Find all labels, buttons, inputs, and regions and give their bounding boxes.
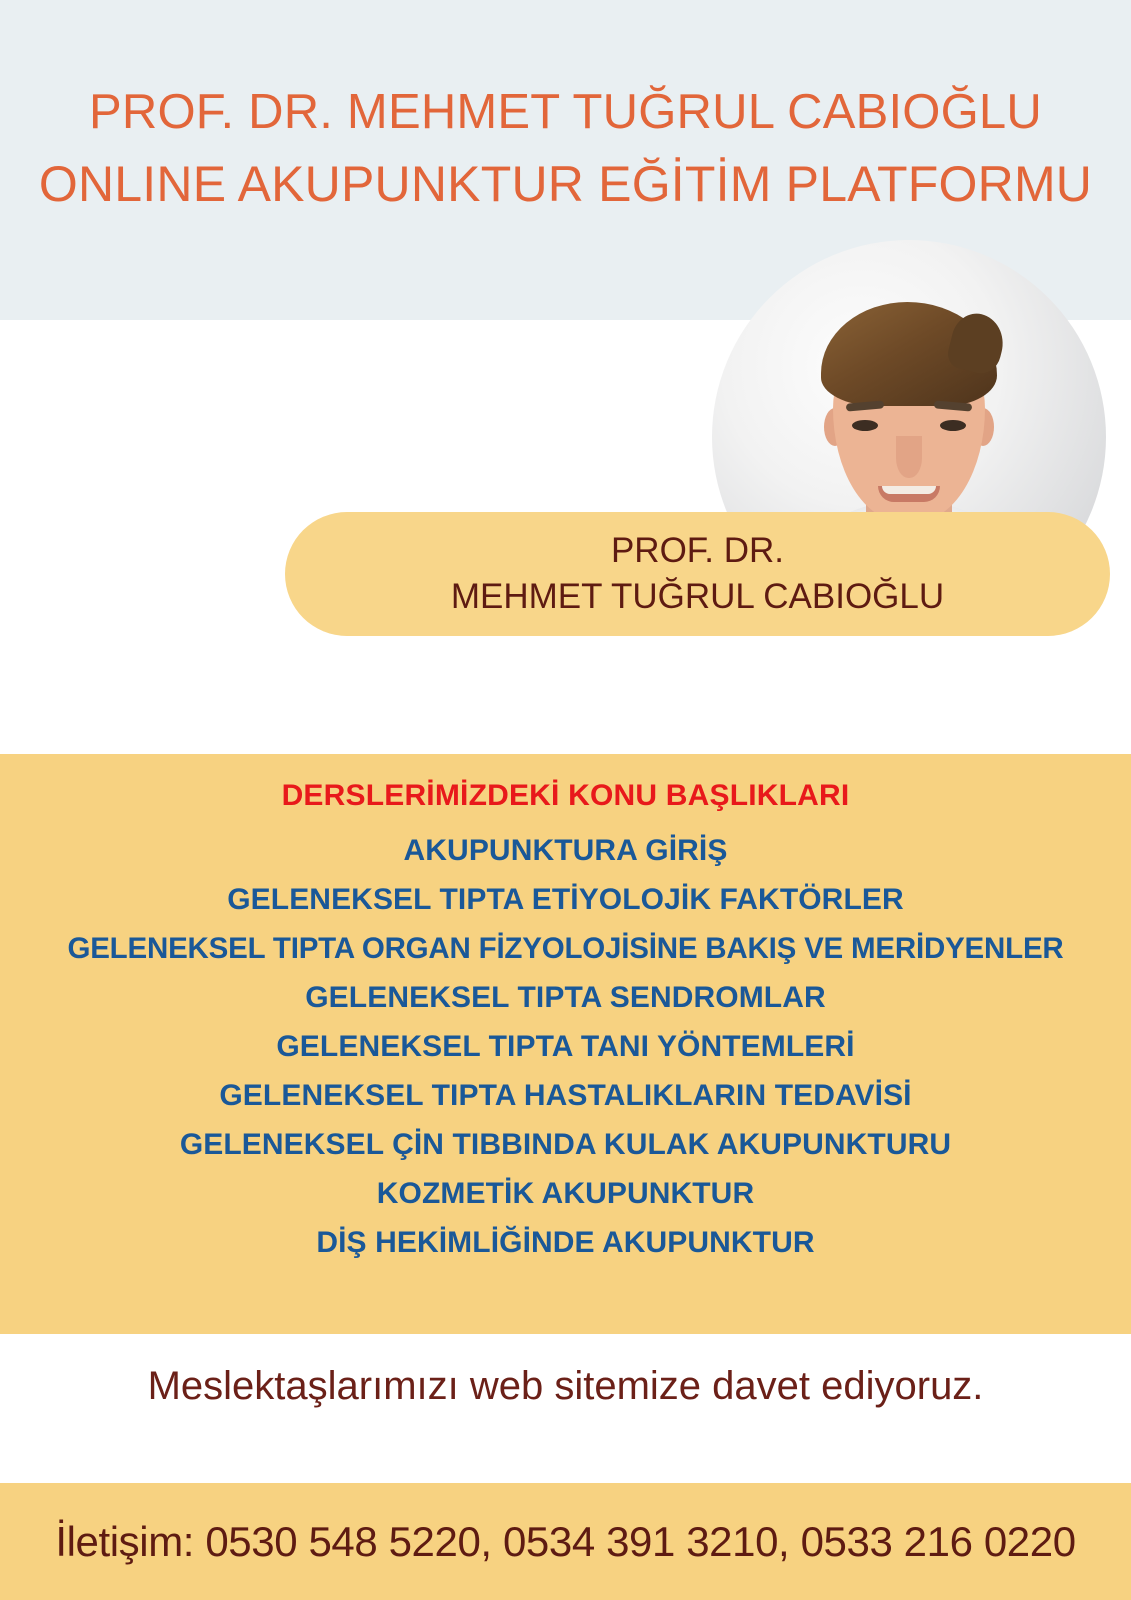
list-item: DİŞ HEKİMLİĞİNDE AKUPUNKTUR (0, 1218, 1131, 1267)
list-item: KOZMETİK AKUPUNKTUR (0, 1169, 1131, 1218)
mouth-shape (878, 486, 940, 502)
eye-left-shape (852, 420, 878, 431)
contact-band: İletişim: 0530 548 5220, 0534 391 3210, … (0, 1483, 1131, 1600)
page-title-line-1: PROF. DR. MEHMET TUĞRUL CABIOĞLU (0, 76, 1131, 148)
name-badge: PROF. DR. MEHMET TUĞRUL CABIOĞLU (285, 512, 1110, 636)
list-item: AKUPUNKTURA GİRİŞ (0, 826, 1131, 875)
list-item: GELENEKSEL ÇİN TIBBINDA KULAK AKUPUNKTUR… (0, 1120, 1131, 1169)
name-badge-line-2: MEHMET TUĞRUL CABIOĞLU (451, 574, 944, 620)
contact-phone-numbers: İletişim: 0530 548 5220, 0534 391 3210, … (55, 1518, 1075, 1566)
name-badge-line-1: PROF. DR. (451, 528, 944, 574)
topics-list: AKUPUNKTURA GİRİŞ GELENEKSEL TIPTA ETİYO… (0, 826, 1131, 1267)
poster-root: PROF. DR. MEHMET TUĞRUL CABIOĞLU ONLINE … (0, 0, 1131, 1600)
eye-right-shape (940, 420, 966, 431)
page-title: PROF. DR. MEHMET TUĞRUL CABIOĞLU ONLINE … (0, 76, 1131, 220)
list-item: GELENEKSEL TIPTA ETİYOLOJİK FAKTÖRLER (0, 875, 1131, 924)
list-item: GELENEKSEL TIPTA SENDROMLAR (0, 973, 1131, 1022)
hair-shape (821, 302, 997, 406)
list-item: GELENEKSEL TIPTA ORGAN FİZYOLOJİSİNE BAK… (0, 924, 1131, 973)
list-item: GELENEKSEL TIPTA HASTALIKLARIN TEDAVİSİ (0, 1071, 1131, 1120)
name-badge-text: PROF. DR. MEHMET TUĞRUL CABIOĞLU (451, 528, 944, 620)
page-title-line-2: ONLINE AKUPUNKTUR EĞİTİM PLATFORMU (0, 148, 1131, 220)
nose-shape (896, 436, 922, 478)
topics-section: DERSLERİMİZDEKİ KONU BAŞLIKLARI AKUPUNKT… (0, 754, 1131, 1334)
invitation-text: Meslektaşlarımızı web sitemize davet edi… (0, 1364, 1131, 1409)
topics-heading: DERSLERİMİZDEKİ KONU BAŞLIKLARI (0, 779, 1131, 813)
list-item: GELENEKSEL TIPTA TANI YÖNTEMLERİ (0, 1022, 1131, 1071)
